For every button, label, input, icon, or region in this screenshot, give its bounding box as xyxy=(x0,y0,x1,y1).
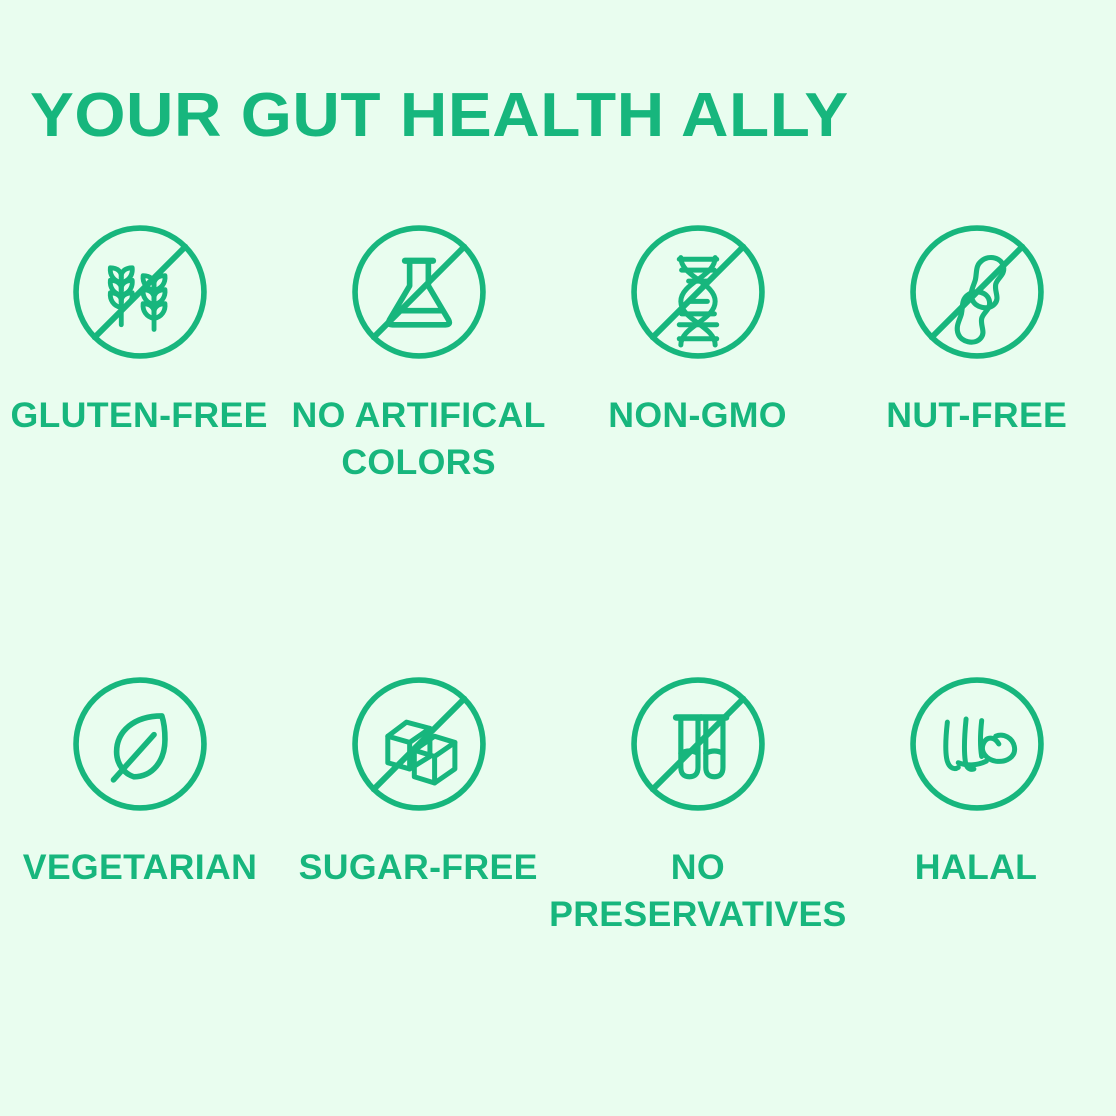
wheat-no-icon xyxy=(62,214,218,370)
badge-row: VEGETARIAN xyxy=(0,666,1116,938)
badge-no-preservatives[interactable]: NO PRESERVATIVES xyxy=(558,666,837,938)
badge-label: HALAL xyxy=(915,844,1037,891)
badge-row: GLUTEN-FREE NO ARTIFICAL COLORS xyxy=(0,214,1116,486)
flask-no-icon xyxy=(341,214,497,370)
leaf-icon xyxy=(62,666,218,822)
sugar-cube-no-icon xyxy=(341,666,497,822)
test-tubes-no-icon xyxy=(620,666,776,822)
badge-non-gmo[interactable]: NON-GMO xyxy=(558,214,837,486)
badge-halal[interactable]: HALAL xyxy=(837,666,1116,938)
page-title: YOUR GUT HEALTH ALLY xyxy=(30,82,849,150)
badge-label: NO ARTIFICAL COLORS xyxy=(291,392,545,486)
badge-nut-free[interactable]: NUT-FREE xyxy=(837,214,1116,486)
badge-label: SUGAR-FREE xyxy=(299,844,538,891)
badge-label: NON-GMO xyxy=(608,392,787,439)
badge-label: NO PRESERVATIVES xyxy=(549,844,847,938)
badge-label: NUT-FREE xyxy=(886,392,1067,439)
badge-label: GLUTEN-FREE xyxy=(11,392,268,439)
badge-no-artifical-colors[interactable]: NO ARTIFICAL COLORS xyxy=(279,214,558,486)
badge-vegetarian[interactable]: VEGETARIAN xyxy=(0,666,279,938)
dna-no-icon xyxy=(620,214,776,370)
certification-badges-poster: YOUR GUT HEALTH ALLY xyxy=(0,0,1116,1116)
badge-gluten-free[interactable]: GLUTEN-FREE xyxy=(0,214,279,486)
badge-grid: GLUTEN-FREE NO ARTIFICAL COLORS xyxy=(0,214,1116,938)
halal-arabic-icon xyxy=(899,666,1055,822)
peanut-no-icon xyxy=(899,214,1055,370)
badge-label: VEGETARIAN xyxy=(22,844,256,891)
badge-sugar-free[interactable]: SUGAR-FREE xyxy=(279,666,558,938)
